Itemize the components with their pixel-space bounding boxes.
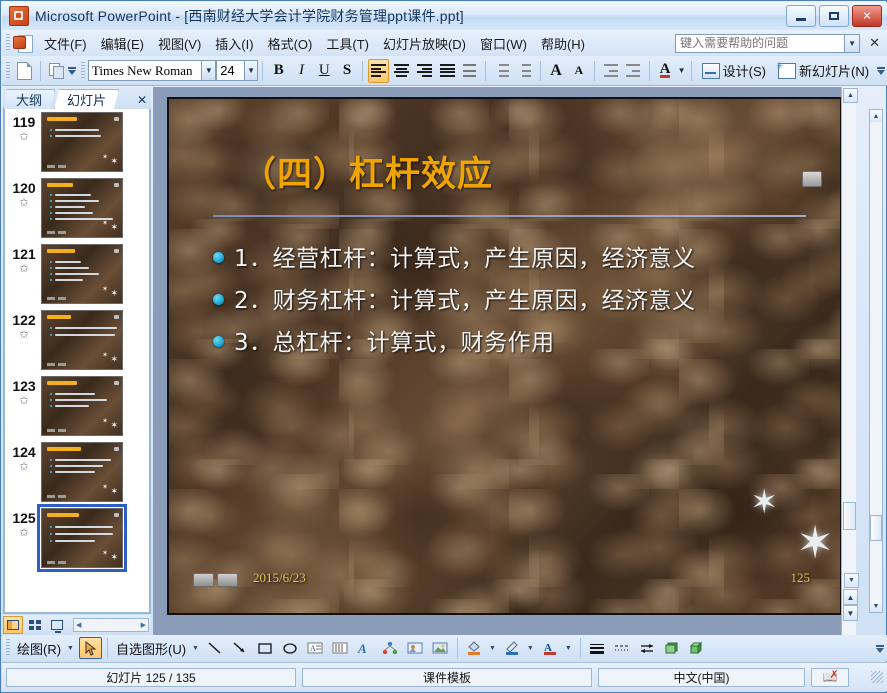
list-item[interactable]: 124 ✩ ✶✶	[5, 439, 149, 505]
decrease-indent-button[interactable]	[600, 59, 621, 83]
thumbnail-meta: 123 ✩	[7, 376, 41, 407]
title-placeholder-handle[interactable]	[802, 171, 822, 187]
toolbar-separator	[649, 61, 650, 81]
copy-icon[interactable]	[46, 59, 67, 83]
next-slide-button[interactable]: ▼	[843, 605, 858, 621]
menu-slideshow[interactable]: 幻灯片放映(D)	[376, 31, 473, 56]
bold-button[interactable]: B	[268, 59, 289, 83]
editor-scrollbar[interactable]: ▲ ▼ ▲ ▼	[841, 87, 856, 635]
minimize-button[interactable]	[786, 5, 816, 27]
oval-icon	[282, 641, 298, 655]
list-item[interactable]: 120 ✩ ✶✶	[5, 175, 149, 241]
shadow-style-tool[interactable]	[661, 637, 684, 659]
language-status[interactable]: 中文(中国)	[598, 668, 805, 687]
drawing-toolbar: 绘图(R) ▼ 自选图形(U) ▼ A A ▼ ▼ A ▼	[2, 635, 887, 661]
view-buttons-row: ◀ ▶	[3, 615, 151, 635]
list-item[interactable]: 123 ✩ ✶✶	[5, 373, 149, 439]
spellcheck-status[interactable]: 📖✗	[811, 668, 849, 687]
rectangle-tool[interactable]	[254, 637, 277, 659]
increase-indent-button[interactable]	[623, 59, 644, 83]
toolbar-separator	[485, 61, 486, 81]
bullet-text: 1．经营杠杆：计算式，产生原因，经济意义	[234, 239, 696, 273]
standard-toolbar-handle[interactable]	[6, 62, 10, 80]
decrease-indent-icon	[604, 64, 618, 77]
scroll-right-icon[interactable]: ▶	[139, 621, 148, 629]
standard-toolbar-overflow[interactable]	[68, 58, 77, 84]
window-title: Microsoft PowerPoint - [西南财经大学会计学院财务管理pp…	[35, 6, 464, 26]
normal-view-button[interactable]	[3, 616, 23, 634]
3d-style-tool[interactable]	[686, 637, 709, 659]
cursor-arrow-icon	[84, 641, 97, 656]
transition-star-icon[interactable]: ✩	[7, 197, 41, 209]
transition-star-icon[interactable]: ✩	[7, 461, 41, 473]
current-slide[interactable]: （四）杠杆效应 1．经营杠杆：计算式，产生原因，经济意义 2．财务杠杆：计算式，…	[167, 97, 842, 615]
formatting-toolbar: Times New Roman ▼ 24 ▼ B I U S	[2, 56, 887, 86]
clip-art-tool[interactable]	[404, 637, 427, 659]
numbered-list-button[interactable]	[491, 59, 512, 83]
align-center-icon	[394, 64, 409, 77]
spelling-error-icon: 📖✗	[823, 670, 838, 684]
menu-help[interactable]: 帮助(H)	[534, 31, 592, 56]
underline-button[interactable]: U	[314, 59, 335, 83]
transition-star-icon[interactable]: ✩	[7, 131, 41, 143]
justify-icon	[440, 64, 455, 77]
title-divider	[213, 215, 806, 217]
arrow-style-icon	[639, 641, 655, 655]
toolbar-separator	[457, 638, 458, 658]
align-center-button[interactable]	[391, 59, 412, 83]
slide-thumbnail[interactable]: ✶✶	[41, 442, 123, 502]
font-color-button[interactable]: A	[655, 59, 676, 83]
fill-color-dropdown-icon[interactable]: ▼	[489, 645, 496, 652]
text-shadow-button[interactable]: S	[337, 59, 358, 83]
restore-button[interactable]	[819, 5, 849, 27]
transition-star-icon[interactable]: ✩	[7, 263, 41, 275]
menu-bar: 文件(F) 编辑(E) 视图(V) 插入(I) 格式(O) 工具(T) 幻灯片放…	[2, 30, 887, 56]
diagram-tool[interactable]	[379, 637, 402, 659]
drawing-toolbar-overflow[interactable]	[873, 635, 887, 661]
thumbnail-meta: 121 ✩	[7, 244, 41, 275]
design-button[interactable]: 设计(S)	[696, 58, 772, 83]
align-left-button[interactable]	[368, 59, 389, 83]
slide-number: 123	[7, 378, 41, 394]
line-color-dropdown-icon[interactable]: ▼	[527, 645, 534, 652]
dash-style-tool[interactable]	[611, 637, 634, 659]
panel-scroll-thumb[interactable]	[870, 515, 882, 541]
thumbnail-meta: 125 ✩	[7, 508, 41, 539]
picture-icon	[432, 641, 448, 655]
close-button[interactable]: ✕	[852, 5, 882, 27]
previous-slide-button[interactable]: ▲	[843, 589, 858, 605]
menu-window[interactable]: 窗口(W)	[473, 31, 534, 56]
help-search-input[interactable]	[675, 34, 845, 53]
font-name-input[interactable]: Times New Roman	[88, 60, 203, 81]
decrease-font-size-button[interactable]: A	[568, 59, 589, 83]
align-right-button[interactable]	[414, 59, 435, 83]
font-name-dropdown-icon[interactable]: ▼	[202, 60, 216, 81]
svg-text:A: A	[310, 644, 316, 653]
design-icon	[702, 63, 720, 79]
line-style-tool[interactable]	[586, 637, 609, 659]
slide-sorter-icon	[29, 620, 41, 630]
design-label: 设计(S)	[723, 61, 766, 80]
powerpoint-app-icon	[9, 6, 29, 26]
decorative-star-icon: ✶	[796, 520, 834, 565]
slide-number: 121	[7, 246, 41, 262]
slide-status: 幻灯片 125 / 135	[6, 668, 296, 687]
toolbar-separator	[540, 61, 541, 81]
slide-thumbnail-list[interactable]: 119 ✩ ✶✶ 120 ✩	[4, 109, 150, 613]
transition-star-icon[interactable]: ✩	[7, 329, 41, 341]
font-size-input[interactable]: 24	[216, 60, 244, 81]
toolbar-separator	[691, 61, 692, 81]
design-template-status[interactable]: 课件模板	[302, 668, 592, 687]
bullet-text: 3．总杠杆：计算式，财务作用	[234, 323, 555, 357]
line-color-icon	[504, 640, 520, 656]
fill-color-icon	[466, 640, 482, 656]
new-slide-button[interactable]: 新幻灯片(N)	[772, 58, 875, 83]
menu-drag-handle[interactable]	[6, 34, 10, 52]
shadow-style-icon	[664, 641, 680, 655]
menu-format[interactable]: 格式(O)	[261, 31, 320, 56]
toolbar-separator	[580, 638, 581, 658]
decorative-star-icon: ✶	[750, 485, 778, 518]
panel-close-icon[interactable]: ✕	[133, 90, 151, 109]
font-color-icon: A	[542, 640, 558, 656]
normal-view-icon	[7, 620, 19, 630]
bullet-icon	[213, 336, 224, 347]
help-dropdown-icon[interactable]: ▼	[845, 34, 860, 53]
title-bar: Microsoft PowerPoint - [西南财经大学会计学院财务管理pp…	[2, 2, 887, 30]
slide-thumbnail[interactable]: ✶✶	[41, 178, 123, 238]
font-size-dropdown-icon[interactable]: ▼	[245, 60, 259, 81]
fill-color-tool[interactable]	[463, 637, 486, 659]
drawing-toolbar-handle[interactable]	[6, 639, 10, 657]
panel-tabs: 大纲 幻灯片 ✕	[3, 87, 151, 109]
text-box-tool[interactable]: A	[304, 637, 327, 659]
slide-show-icon	[51, 620, 63, 630]
transition-star-icon[interactable]: ✩	[7, 527, 41, 539]
justify-button[interactable]	[437, 59, 458, 83]
line-spacing-button[interactable]	[459, 59, 480, 83]
line-spacing-icon	[463, 64, 476, 77]
slide-body[interactable]: 1．经营杠杆：计算式，产生原因，经济意义 2．财务杠杆：计算式，产生原因，经济意…	[213, 239, 810, 365]
slide-thumbnail[interactable]: ✶✶	[41, 376, 123, 436]
tab-slides[interactable]: 幻灯片	[54, 89, 119, 109]
font-color-dropdown-icon[interactable]: ▼	[676, 60, 686, 81]
bulleted-list-button[interactable]	[514, 59, 535, 83]
diagram-icon	[382, 641, 398, 655]
select-arrow-tool[interactable]	[79, 637, 102, 659]
editor-scroll-down-icon[interactable]: ▼	[844, 573, 859, 588]
slide-sorter-button[interactable]	[25, 616, 45, 634]
slide-date: 2015/6/23	[253, 570, 306, 586]
powerpoint-window: Microsoft PowerPoint - [西南财经大学会计学院财务管理pp…	[0, 0, 887, 693]
list-item[interactable]: 125 ✩ ✶✶	[5, 505, 149, 571]
new-slide-label: 新幻灯片(N)	[799, 61, 869, 80]
list-item[interactable]: 2．财务杠杆：计算式，产生原因，经济意义	[213, 281, 810, 315]
panel-scroll-down-icon[interactable]: ▼	[870, 600, 882, 612]
italic-button[interactable]: I	[291, 59, 312, 83]
slide-thumbnail-selected[interactable]: ✶✶	[41, 508, 123, 568]
list-item[interactable]: 121 ✩ ✶✶	[5, 241, 149, 307]
line-tool[interactable]	[204, 637, 227, 659]
thumbnail-meta: 122 ✩	[7, 310, 41, 341]
editor-scroll-up-icon[interactable]: ▲	[843, 88, 858, 103]
toolbar-separator	[362, 61, 363, 81]
text-box-icon: A	[307, 641, 323, 655]
toolbar-separator	[40, 61, 41, 81]
slide-number: 124	[7, 444, 41, 460]
align-left-icon	[371, 64, 386, 77]
toolbar-separator	[107, 638, 108, 658]
list-item[interactable]: 122 ✩ ✶✶	[5, 307, 149, 373]
align-right-icon	[417, 64, 432, 77]
slide-thumbnail[interactable]: ✶✶	[41, 112, 123, 172]
resize-grip[interactable]	[871, 671, 883, 683]
font-color-dropdown-icon[interactable]: ▼	[565, 645, 572, 652]
window-controls: ✕	[786, 5, 884, 27]
bullet-text: 2．财务杠杆：计算式，产生原因，经济意义	[234, 281, 696, 315]
font-color-tool[interactable]: A	[539, 637, 562, 659]
oval-tool[interactable]	[279, 637, 302, 659]
list-item[interactable]: 3．总杠杆：计算式，财务作用	[213, 323, 810, 357]
help-close-icon[interactable]: ✕	[866, 35, 883, 51]
editor-scroll-thumb[interactable]	[843, 502, 856, 530]
slide-number: 119	[7, 114, 41, 130]
numbered-list-icon	[495, 64, 509, 77]
toolbar-separator	[594, 61, 595, 81]
dash-style-icon	[614, 641, 630, 655]
wordart-icon: A	[357, 641, 373, 656]
close-icon: ✕	[862, 11, 871, 22]
footer-placeholder-right[interactable]	[217, 573, 238, 587]
status-bar: 幻灯片 125 / 135 课件模板 中文(中国) 📖✗	[2, 662, 887, 691]
menu-view[interactable]: 视图(V)	[151, 31, 208, 56]
menu-insert[interactable]: 插入(I)	[208, 31, 260, 56]
new-file-icon[interactable]	[14, 59, 35, 83]
list-item[interactable]: 1．经营杠杆：计算式，产生原因，经济意义	[213, 239, 810, 273]
thumbnail-meta: 120 ✩	[7, 178, 41, 209]
autoshapes-dropdown-icon[interactable]: ▼	[192, 645, 199, 652]
line-color-tool[interactable]	[501, 637, 524, 659]
arrow-style-tool[interactable]	[636, 637, 659, 659]
help-search-group: ▼ ✕	[675, 34, 887, 53]
vertical-text-box-icon	[332, 641, 348, 655]
draw-menu-dropdown-icon[interactable]: ▼	[67, 645, 74, 652]
bulleted-list-icon	[517, 64, 531, 77]
formatting-toolbar-handle[interactable]	[81, 62, 85, 80]
line-icon	[207, 641, 223, 655]
picture-tool[interactable]	[429, 637, 452, 659]
panel-scroll-up-icon[interactable]: ▲	[870, 110, 882, 122]
slide-page-number: 125	[791, 570, 811, 586]
document-icon	[13, 34, 33, 53]
slide-number: 120	[7, 180, 41, 196]
scroll-left-icon[interactable]: ◀	[74, 621, 83, 629]
slide-thumbnail[interactable]: ✶✶	[41, 310, 123, 370]
clip-art-icon	[407, 641, 423, 655]
increase-indent-icon	[626, 64, 640, 77]
panel-horizontal-scrollbar[interactable]: ◀ ▶	[73, 618, 149, 632]
wordart-tool[interactable]: A	[354, 637, 377, 659]
arrow-icon	[232, 641, 248, 655]
formatting-toolbar-overflow[interactable]	[875, 58, 887, 84]
line-style-icon	[589, 641, 605, 655]
slide-number: 125	[7, 510, 41, 526]
arrow-tool[interactable]	[229, 637, 252, 659]
footer-placeholder-left[interactable]	[193, 573, 214, 587]
thumbnail-meta: 119 ✩	[7, 112, 41, 143]
menu-edit[interactable]: 编辑(E)	[94, 31, 151, 56]
new-slide-icon	[778, 63, 796, 79]
slide-show-button[interactable]	[47, 616, 67, 634]
draw-menu-button[interactable]: 绘图(R)	[13, 637, 65, 660]
increase-font-size-button[interactable]: A	[546, 59, 567, 83]
thumbnail-meta: 124 ✩	[7, 442, 41, 473]
svg-text:A: A	[357, 641, 367, 656]
autoshapes-menu-button[interactable]: 自选图形(U)	[112, 637, 190, 660]
slide-number: 122	[7, 312, 41, 328]
tab-outline[interactable]: 大纲	[3, 89, 55, 109]
slide-thumbnail[interactable]: ✶✶	[41, 244, 123, 304]
bullet-icon	[213, 252, 224, 263]
panel-scrollbar[interactable]: ▲ ▼	[869, 109, 883, 613]
menu-file[interactable]: 文件(F)	[37, 31, 94, 56]
menu-tools[interactable]: 工具(T)	[319, 31, 376, 56]
slide-title[interactable]: （四）杠杆效应	[241, 146, 493, 197]
rectangle-icon	[257, 641, 273, 655]
toolbar-separator	[262, 61, 263, 81]
list-item[interactable]: 119 ✩ ✶✶	[5, 109, 149, 175]
slide-editor-area: （四）杠杆效应 1．经营杠杆：计算式，产生原因，经济意义 2．财务杠杆：计算式，…	[153, 87, 856, 635]
3d-style-icon	[689, 641, 705, 655]
vertical-text-box-tool[interactable]	[329, 637, 352, 659]
bullet-icon	[213, 294, 224, 305]
transition-star-icon[interactable]: ✩	[7, 395, 41, 407]
